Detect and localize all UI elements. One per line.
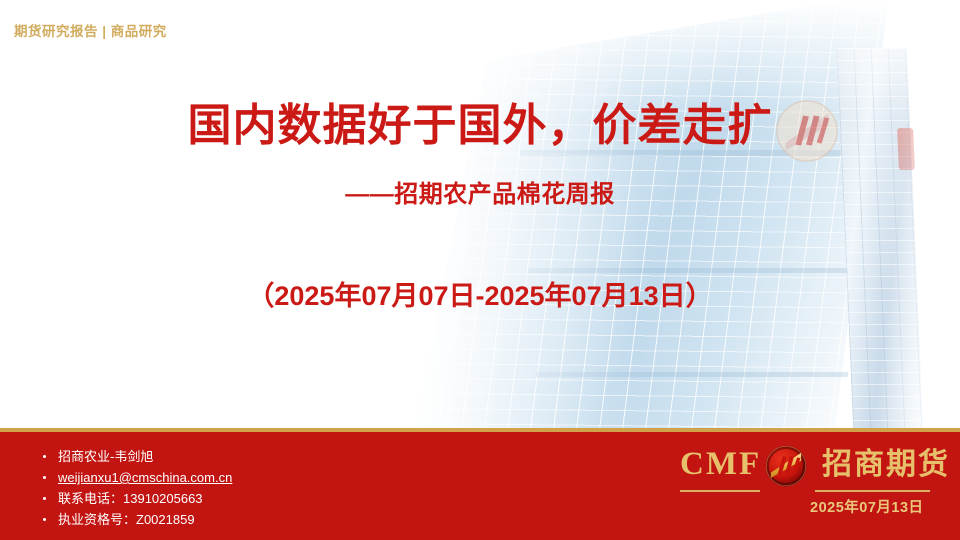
brand-chinese-mark: 招商期货 (822, 446, 950, 483)
company-logo-lockup: CMF (670, 440, 940, 532)
tower-window-band (528, 268, 849, 273)
list-item: 联系电话：13910205663 (40, 488, 232, 509)
brand-divider-left (680, 490, 760, 492)
contact-email-link[interactable]: weijianxu1@cmschina.com.cn (58, 470, 232, 485)
presentation-slide: 期货研究报告 | 商品研究 国内数据好于国外，价差走扩 ——招期农产品棉花周报 … (0, 0, 960, 540)
cmf-emblem-icon (765, 445, 807, 487)
contact-analyst: 招商农业-韦剑旭 (58, 449, 153, 464)
contact-list: 招商农业-韦剑旭 weijianxu1@cmschina.com.cn 联系电话… (40, 446, 232, 530)
report-category-kicker: 期货研究报告 | 商品研究 (14, 20, 167, 40)
list-item: 执业资格号：Z0021859 (40, 509, 232, 530)
list-item[interactable]: weijianxu1@cmschina.com.cn (40, 467, 232, 488)
photo-left-fade (0, 0, 640, 432)
cmf-emblem-watermark-icon (776, 100, 838, 162)
page-subtitle: ——招期农产品棉花周报 (0, 180, 960, 210)
list-item: 招商农业-韦剑旭 (40, 446, 232, 467)
report-date-range: （2025年07月07日-2025年07月13日） (0, 279, 960, 313)
footer-band: 招商农业-韦剑旭 weijianxu1@cmschina.com.cn 联系电话… (0, 428, 960, 540)
brand-latin-mark: CMF (680, 446, 761, 482)
contact-phone: 联系电话：13910205663 (58, 491, 203, 506)
contact-license-number: 执业资格号：Z0021859 (58, 512, 195, 527)
photo-right-fade (880, 0, 960, 432)
tower-window-band (536, 372, 849, 377)
publish-date: 2025年07月13日 (810, 498, 924, 518)
background-building-photo (0, 0, 960, 432)
tower-main-facade (414, 0, 889, 432)
brand-divider-right (815, 490, 930, 492)
